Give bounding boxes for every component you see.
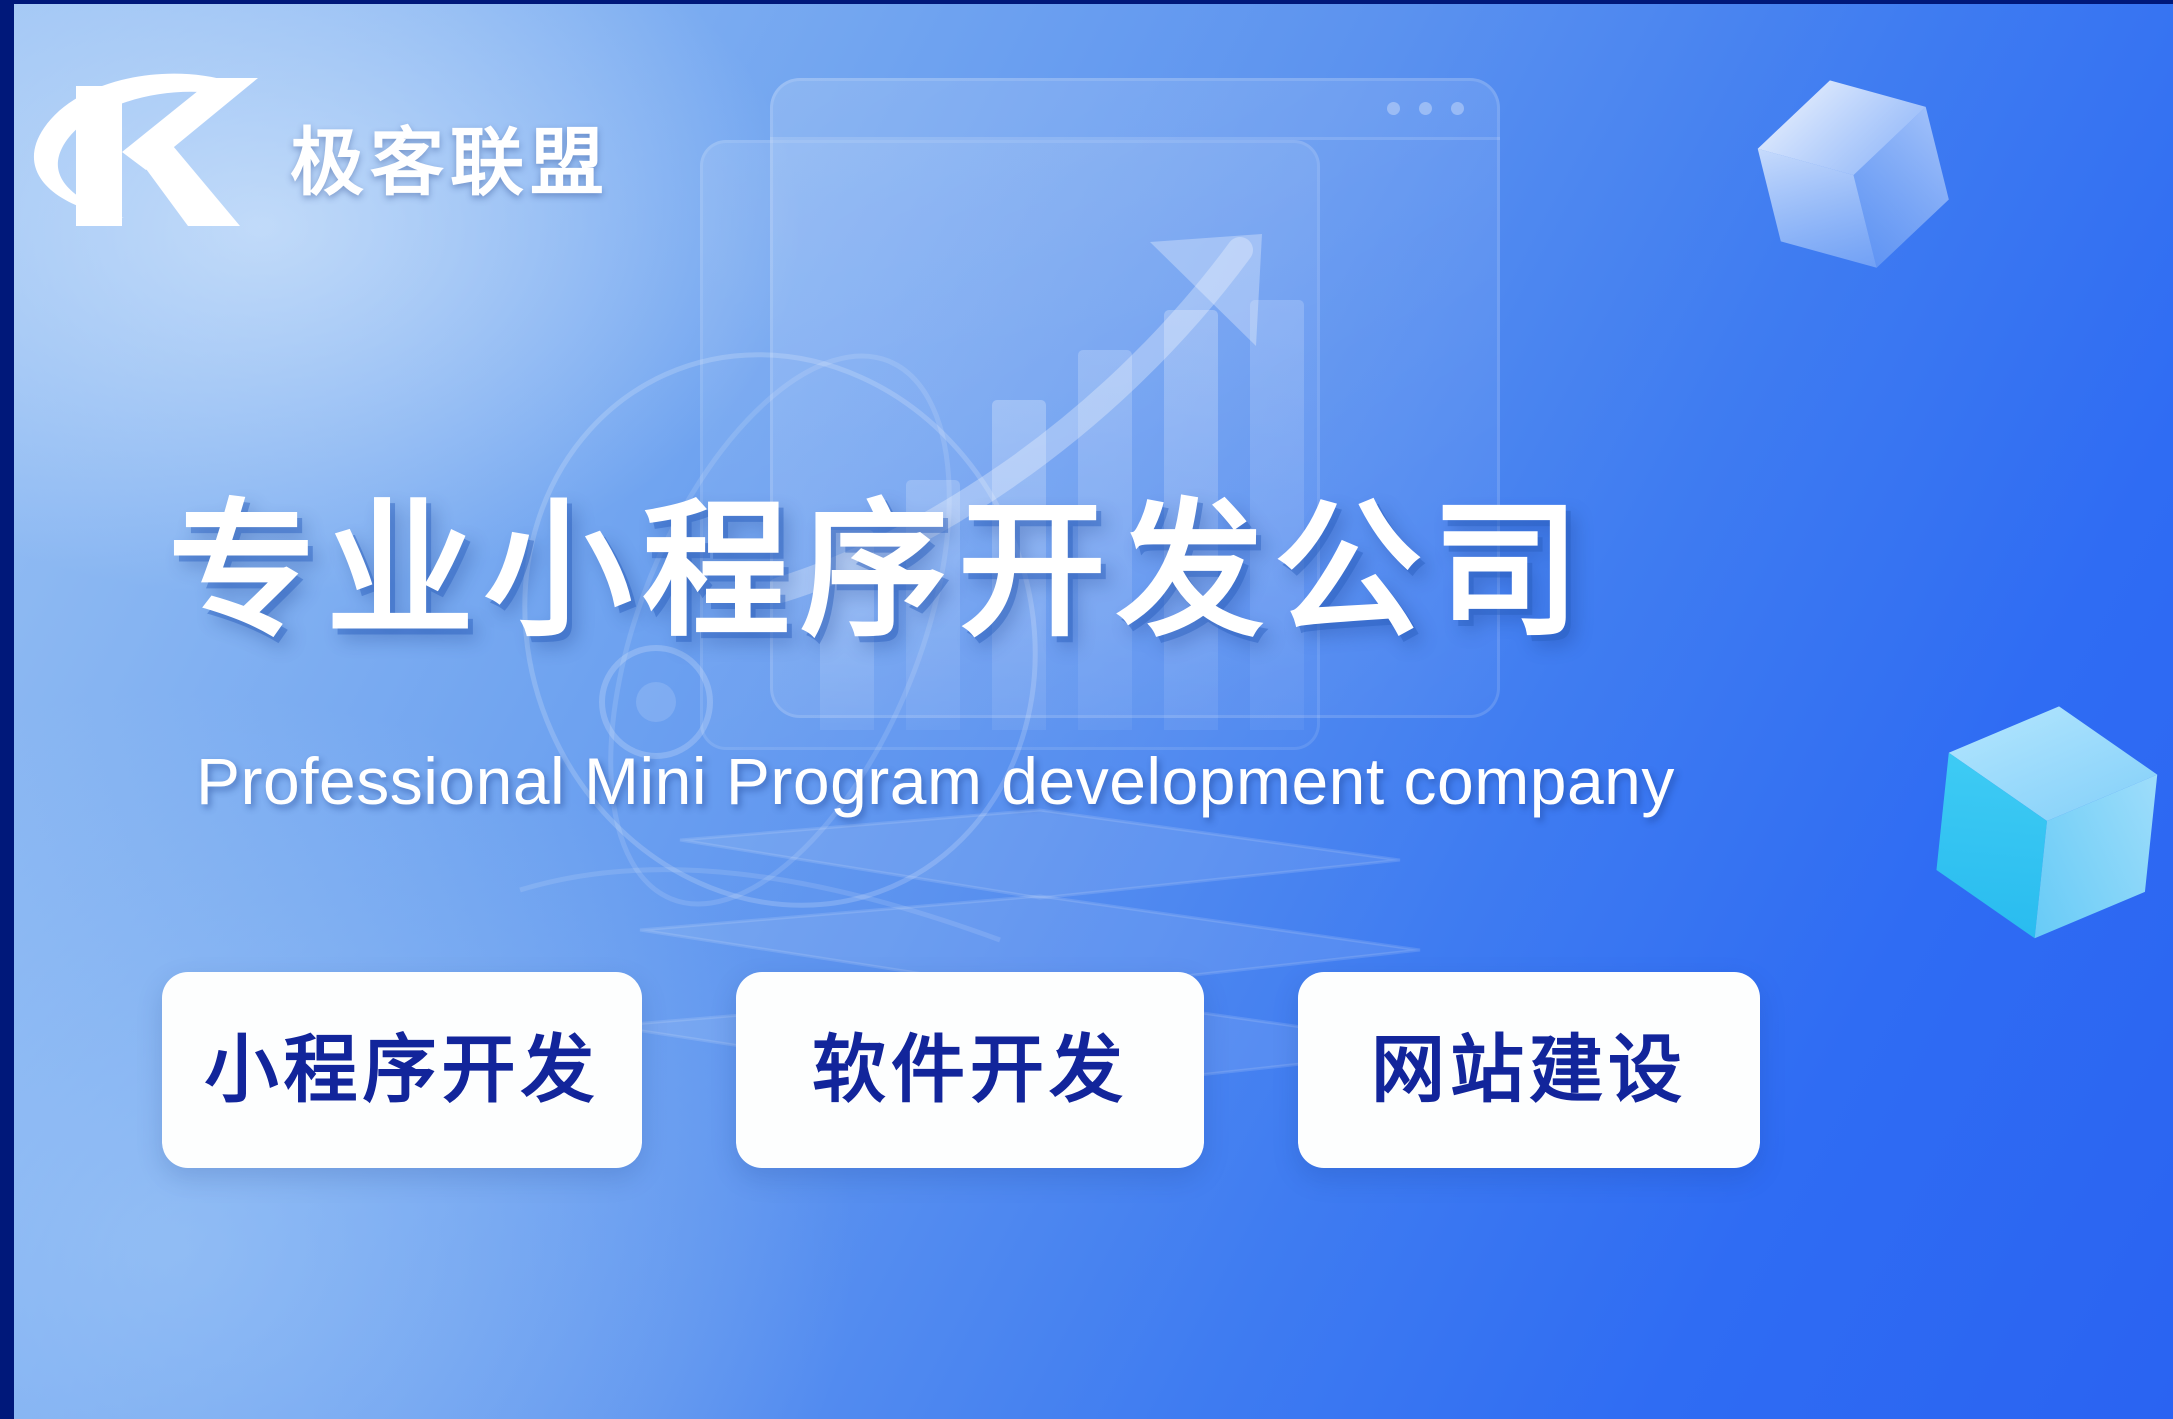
cta-button-software[interactable]: 软件开发: [736, 972, 1204, 1168]
cta-button-label: 网站建设: [1371, 1033, 1687, 1107]
glass-cube-bottom-right-icon: [1903, 677, 2173, 965]
cta-button-label: 软件开发: [812, 1033, 1128, 1107]
background-window-titlebar: [770, 78, 1500, 140]
glass-cube-top-right-icon: [1718, 38, 1987, 307]
background-window-dot-icon: [1387, 102, 1400, 115]
cta-button-row: 小程序开发 软件开发 网站建设: [162, 972, 1760, 1168]
background-window-dot-icon: [1451, 102, 1464, 115]
cta-button-label: 小程序开发: [205, 1033, 600, 1107]
brand-logo-lockup[interactable]: 极客联盟: [18, 48, 610, 248]
k-orbit-logo-icon: [18, 48, 268, 248]
cta-button-website[interactable]: 网站建设: [1298, 972, 1760, 1168]
background-window-dot-icon: [1419, 102, 1432, 115]
promo-banner: 极客联盟 专业小程序开发公司 Professional Mini Program…: [0, 0, 2173, 1419]
brand-name: 极客联盟: [290, 96, 610, 200]
page-subtitle: Professional Mini Program development co…: [196, 748, 1675, 814]
background-secondary-window-icon: [700, 140, 1320, 750]
cta-button-mini-program[interactable]: 小程序开发: [162, 972, 642, 1168]
page-title: 专业小程序开发公司: [168, 498, 1590, 646]
